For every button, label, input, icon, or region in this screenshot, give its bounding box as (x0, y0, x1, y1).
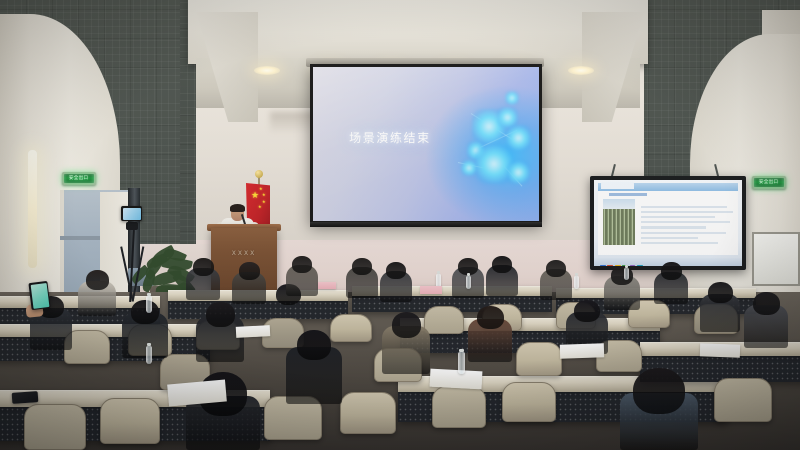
chair (502, 382, 556, 422)
exit-sign-label: 安全出口 (69, 176, 89, 181)
attendee (486, 256, 518, 296)
projection-screen: 场景演练结束 (310, 64, 542, 224)
chair (424, 306, 464, 334)
water-bottle (574, 276, 579, 289)
downlight (568, 66, 594, 75)
content-text-line (641, 206, 727, 208)
chair (340, 392, 396, 434)
browser-tab (601, 182, 634, 189)
attendee-head (206, 302, 235, 327)
content-text-line (641, 216, 715, 218)
attendee-head (131, 300, 159, 324)
attendee (382, 312, 430, 374)
content-text-line (641, 232, 725, 234)
water-bottle-cap (459, 349, 464, 352)
secondary-monitor (590, 176, 746, 270)
attendee-head (708, 282, 733, 303)
podium-inscription: XXXX (211, 250, 277, 257)
flag-pole-finial (255, 170, 263, 178)
flag-star: ★ (258, 205, 262, 209)
attendee (286, 330, 342, 404)
speaker-hair (230, 204, 245, 212)
water-bottle-cap (467, 273, 470, 276)
projection-screen-surface: 场景演练结束 (313, 67, 539, 221)
attendee-smartphone-screen (30, 283, 49, 309)
attendee-head (611, 266, 633, 285)
flag-star: ★ (251, 192, 259, 201)
water-bottle (458, 352, 465, 374)
content-thumbnail-sky (603, 199, 636, 209)
flag-star: ★ (259, 187, 263, 191)
content-text-line (641, 221, 730, 223)
content-text-line (641, 242, 718, 244)
content-text-line (641, 237, 697, 239)
chair (100, 398, 160, 444)
attendee-head (86, 270, 109, 290)
exit-sign-left: 安全出口 (62, 172, 96, 185)
attendee (380, 262, 412, 302)
chair (516, 342, 562, 376)
water-bottle-cap (437, 271, 440, 274)
attendee (346, 258, 378, 298)
downlight (254, 66, 280, 75)
water-bottle-cap (575, 273, 578, 276)
exit-sign-face: 安全出口 (64, 174, 94, 183)
whiteboard (752, 232, 800, 286)
content-headline-bar (609, 193, 647, 196)
attendee-head (386, 262, 406, 279)
tripod-phone-camera (121, 206, 142, 221)
attendee (744, 292, 788, 348)
water-bottle-cap (147, 293, 151, 296)
paper-sheet (700, 343, 740, 357)
attendee-head (392, 312, 421, 338)
water-bottle (466, 276, 471, 289)
chair (432, 386, 486, 428)
attendee (540, 260, 572, 300)
flag-star: ★ (262, 200, 266, 204)
attendee-head (239, 262, 260, 280)
attendee (122, 300, 168, 358)
secondary-monitor-screen (594, 180, 742, 266)
exit-sign-right: 安全出口 (752, 176, 786, 189)
attendee (700, 282, 740, 332)
name-card (318, 282, 336, 289)
content-text-line (641, 226, 706, 228)
exit-sign-face: 安全出口 (754, 178, 784, 187)
attendee (186, 258, 220, 300)
attendee-head (753, 292, 780, 315)
attendee-head (661, 262, 682, 280)
attendee (604, 266, 640, 310)
attendee-head (492, 256, 512, 273)
phone-on-table (12, 391, 39, 404)
attendee (232, 262, 266, 304)
attendee-head (292, 256, 312, 273)
attendee-head (574, 300, 600, 322)
screen-glare (313, 67, 539, 221)
attendee (286, 256, 318, 296)
attendee-head (352, 258, 372, 275)
attendee-head (633, 368, 685, 414)
water-bottle (146, 346, 152, 364)
attendee (654, 262, 688, 304)
water-bottle-cap (147, 343, 151, 346)
attendee-head (193, 258, 214, 276)
water-bottle-cap (625, 265, 628, 268)
content-text-line (641, 211, 733, 213)
conference-hall-photo: 安全出口 安全出口 场景演练结束 ★★★★★ (0, 0, 800, 450)
attendee (620, 368, 698, 450)
attendee (78, 270, 116, 316)
paper-sheet (560, 343, 604, 359)
name-card (420, 286, 442, 294)
tripod-phone-screen (123, 208, 141, 220)
paper-sheet (236, 325, 271, 338)
projection-screen-bottom-bar (310, 222, 542, 227)
water-bottle (146, 296, 152, 313)
paper-sheet (430, 369, 483, 390)
chair (24, 404, 86, 450)
flag-star: ★ (262, 193, 266, 197)
attendee-smartphone (28, 281, 50, 310)
water-bottle (624, 268, 629, 280)
wall-sconce-light (28, 150, 37, 268)
chair (714, 378, 772, 422)
attendee (468, 306, 512, 362)
attendee-head (477, 306, 504, 329)
tripod-head (126, 222, 138, 230)
attendee-head (546, 260, 566, 277)
attendee-head (297, 330, 331, 360)
exit-sign-label: 安全出口 (759, 180, 779, 185)
